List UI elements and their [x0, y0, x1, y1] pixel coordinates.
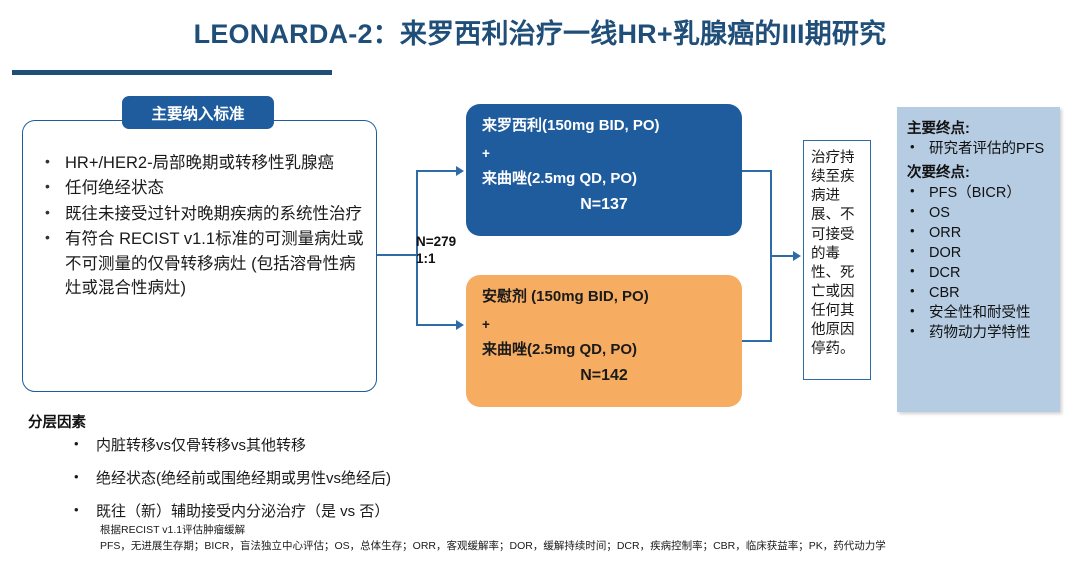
connector-merge-to-duration	[770, 255, 795, 257]
list-item: 既往未接受过针对晚期疾病的系统性治疗	[35, 202, 366, 226]
arm-plus-sign: +	[482, 146, 726, 161]
criteria-header-tab: 主要纳入标准	[122, 96, 274, 129]
primary-endpoints-header: 主要终点:	[907, 117, 1052, 138]
arrow-into-arm-experimental	[456, 166, 464, 176]
list-item: DCR	[907, 263, 1052, 283]
secondary-endpoints-list: PFS（BICR） OS ORR DOR DCR CBR 安全性和耐受性 药物动…	[907, 183, 1052, 343]
list-item: PFS（BICR）	[907, 183, 1052, 203]
list-item: 既往（新）辅助接受内分泌治疗（是 vs 否）	[66, 503, 391, 521]
list-item: 绝经状态(绝经前或围绝经期或男性vs绝经后)	[66, 470, 391, 488]
list-item: 有符合 RECIST v1.1标准的可测量病灶或不可测量的仅骨转移病灶 (包括溶…	[35, 227, 366, 300]
stratification-title: 分层因素	[28, 411, 86, 432]
arm-partner-drug: 来曲唑(2.5mg QD, PO)	[482, 342, 726, 359]
list-item: 安全性和耐受性	[907, 303, 1052, 323]
inclusion-criteria-list: HR+/HER2-局部晚期或转移性乳腺癌 任何绝经状态 既往未接受过针对晚期疾病…	[35, 151, 366, 301]
inclusion-criteria-box: HR+/HER2-局部晚期或转移性乳腺癌 任何绝经状态 既往未接受过针对晚期疾病…	[22, 120, 377, 392]
secondary-endpoints-header: 次要终点:	[907, 161, 1052, 182]
list-item: DOR	[907, 243, 1052, 263]
arm-sample-size: N=137	[482, 196, 726, 214]
list-item: CBR	[907, 283, 1052, 303]
list-item: HR+/HER2-局部晚期或转移性乳腺癌	[35, 151, 366, 175]
list-item: 内脏转移vs仅骨转移vs其他转移	[66, 437, 391, 455]
list-item: 药物动力学特性	[907, 323, 1052, 343]
randomization-label: N=279 1:1	[416, 233, 456, 268]
list-item: OS	[907, 203, 1052, 223]
arrow-into-duration-box	[793, 251, 801, 261]
arm-drug-name: 来罗西利(150mg BID, PO)	[482, 118, 726, 135]
arm-plus-sign: +	[482, 317, 726, 332]
treatment-arm-control: 安慰剂 (150mg BID, PO) + 来曲唑(2.5mg QD, PO) …	[466, 275, 742, 407]
arm-sample-size: N=142	[482, 367, 726, 385]
arm-drug-name: 安慰剂 (150mg BID, PO)	[482, 289, 726, 306]
connector-split-to-arm-experimental	[416, 170, 458, 172]
footnote-line: PFS，无进展生存期；BICR，盲法独立中心评估；OS，总体生存；ORR，客观缓…	[100, 538, 1070, 554]
primary-endpoints-list: 研究者评估的PFS	[907, 139, 1052, 159]
treatment-duration-box: 治疗持续至疾病进展、不可接受的毒性、死亡或因任何其他原因停药。	[803, 140, 871, 380]
list-item: ORR	[907, 223, 1052, 243]
randomization-ratio: 1:1	[416, 250, 456, 267]
list-item: 任何绝经状态	[35, 176, 366, 200]
arm-partner-drug: 来曲唑(2.5mg QD, PO)	[482, 171, 726, 188]
randomization-total-n: N=279	[416, 233, 456, 250]
title-underline-rule	[12, 70, 332, 75]
connector-arm-experimental-out	[742, 170, 772, 172]
page-title: LEONARDA-2：来罗西利治疗一线HR+乳腺癌的III期研究	[0, 12, 1080, 51]
connector-criteria-to-split	[377, 254, 417, 256]
footnotes: 根据RECIST v1.1评估肿瘤缓解 PFS，无进展生存期；BICR，盲法独立…	[100, 522, 1070, 555]
slide-canvas: LEONARDA-2：来罗西利治疗一线HR+乳腺癌的III期研究 主要纳入标准 …	[0, 0, 1080, 571]
list-item: 研究者评估的PFS	[907, 139, 1052, 159]
footnote-line: 根据RECIST v1.1评估肿瘤缓解	[100, 522, 1070, 538]
connector-arm-control-out	[742, 340, 772, 342]
arrow-into-arm-control	[456, 320, 464, 330]
endpoints-panel: 主要终点: 研究者评估的PFS 次要终点: PFS（BICR） OS ORR D…	[897, 107, 1060, 412]
treatment-arm-experimental: 来罗西利(150mg BID, PO) + 来曲唑(2.5mg QD, PO) …	[466, 104, 742, 236]
connector-split-to-arm-control	[416, 324, 458, 326]
